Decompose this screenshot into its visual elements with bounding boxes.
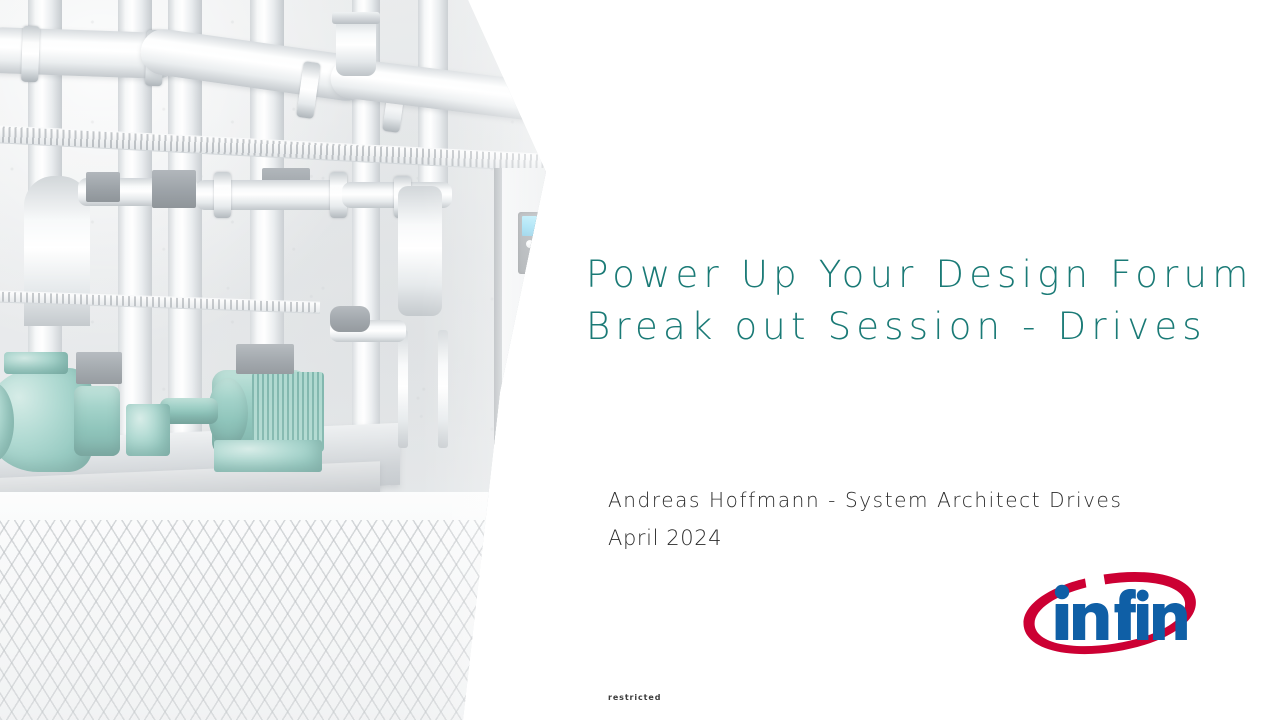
terminal-box — [236, 344, 294, 374]
pump-pedestal — [126, 404, 170, 456]
support-leg — [438, 330, 448, 448]
pipe-stub — [336, 16, 376, 76]
vertical-vessel — [398, 186, 442, 316]
date-line: April 2024 — [608, 519, 1122, 557]
slide-subtitle: Andreas Hoffmann - System Architect Driv… — [608, 481, 1122, 557]
panel-button — [530, 250, 542, 264]
valve-body — [330, 306, 370, 332]
slide-title: Power Up Your Design Forum Break out Ses… — [586, 249, 1276, 353]
hmi-screen — [522, 216, 544, 236]
panel-button — [526, 240, 534, 248]
valve-actuator — [86, 172, 120, 202]
infineon-logo: infineon — [1007, 559, 1213, 663]
pipe-flange — [21, 26, 40, 83]
title-line-2: Break out Session - Drives — [586, 301, 1276, 353]
title-line-1: Power Up Your Design Forum — [586, 249, 1276, 301]
pipe-cap — [332, 12, 380, 24]
classification-label: restricted — [608, 693, 661, 702]
pipe-flange — [214, 172, 231, 218]
presentation-slide: Power Up Your Design Forum Break out Ses… — [0, 0, 1280, 720]
motor-foot — [214, 440, 322, 472]
hero-image — [0, 0, 560, 720]
presenter-line: Andreas Hoffmann - System Architect Driv… — [608, 481, 1122, 519]
support-leg — [398, 330, 408, 448]
terminal-box — [76, 352, 122, 384]
cabinet-edge — [494, 168, 502, 464]
pump-discharge-flange — [4, 352, 68, 374]
diamond-plate-floor — [0, 520, 560, 720]
valve-actuator — [152, 170, 196, 208]
panel-button — [528, 264, 536, 272]
pump-coupling — [74, 386, 120, 456]
